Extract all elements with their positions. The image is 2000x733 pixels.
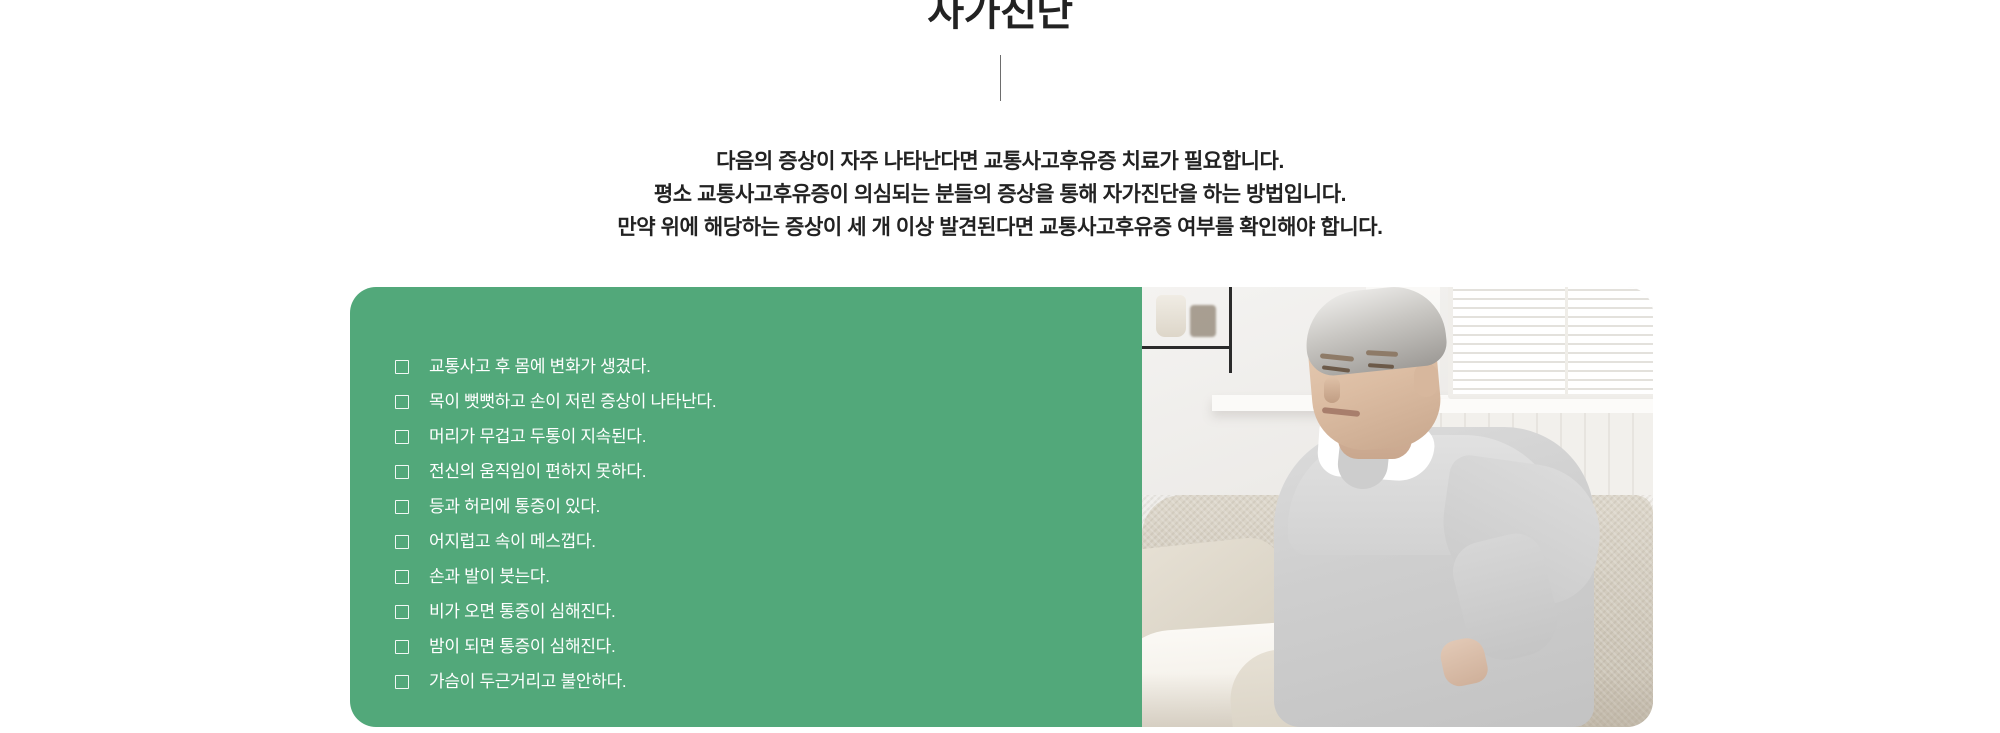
list-item-label: 손과 발이 붓는다. (429, 568, 550, 585)
photo-shelf-jar (1156, 295, 1186, 337)
checkbox-icon[interactable] (395, 570, 409, 584)
list-item-label: 가슴이 두근거리고 불안하다. (429, 673, 626, 690)
checkbox-icon[interactable] (395, 465, 409, 479)
list-item-label: 머리가 무겁고 두통이 지속된다. (429, 428, 646, 445)
patient-photo (1142, 287, 1653, 727)
lead-line-1: 다음의 증상이 자주 나타난다면 교통사고후유증 치료가 필요합니다. (0, 145, 2000, 178)
checkbox-icon[interactable] (395, 500, 409, 514)
photo-man-ear (1414, 363, 1438, 397)
checkbox-icon[interactable] (395, 430, 409, 444)
list-item[interactable]: 가슴이 두근거리고 불안하다. (395, 664, 1122, 699)
checkbox-icon[interactable] (395, 640, 409, 654)
list-item-label: 비가 오면 통증이 심해진다. (429, 603, 615, 620)
lead-line-2: 평소 교통사고후유증이 의심되는 분들의 증상을 통해 자가진단을 하는 방법입… (0, 178, 2000, 211)
list-item[interactable]: 비가 오면 통증이 심해진다. (395, 594, 1122, 629)
checklist-panel: 교통사고 후 몸에 변화가 생겼다. 목이 뻣뻣하고 손이 저린 증상이 나타난… (350, 287, 1142, 727)
checkbox-icon[interactable] (395, 535, 409, 549)
photo-window-sill (1438, 399, 1653, 413)
list-item[interactable]: 밤이 되면 통증이 심해진다. (395, 629, 1122, 664)
photo-window-shutter-right (1568, 287, 1653, 394)
page-title: 자가진단 (0, 0, 2000, 36)
list-item-label: 교통사고 후 몸에 변화가 생겼다. (429, 358, 651, 375)
list-item[interactable]: 목이 뻣뻣하고 손이 저린 증상이 나타난다. (395, 384, 1122, 419)
lead-line-3: 만약 위에 해당하는 증상이 세 개 이상 발견된다면 교통사고후유증 여부를 … (0, 211, 2000, 244)
checkbox-icon[interactable] (395, 675, 409, 689)
list-item-label: 등과 허리에 통증이 있다. (429, 498, 600, 515)
checkbox-icon[interactable] (395, 395, 409, 409)
photo-man-nose (1324, 377, 1340, 403)
list-item-label: 어지럽고 속이 메스껍다. (429, 533, 596, 550)
checkbox-icon[interactable] (395, 605, 409, 619)
self-diagnosis-section: 자가진단 다음의 증상이 자주 나타난다면 교통사고후유증 치료가 필요합니다.… (0, 0, 2000, 733)
list-item[interactable]: 교통사고 후 몸에 변화가 생겼다. (395, 349, 1122, 384)
self-diagnosis-card: 교통사고 후 몸에 변화가 생겼다. 목이 뻣뻣하고 손이 저린 증상이 나타난… (350, 287, 1653, 727)
list-item-label: 밤이 되면 통증이 심해진다. (429, 638, 615, 655)
photo-window-shutter-left (1453, 287, 1568, 394)
list-item[interactable]: 등과 허리에 통증이 있다. (395, 489, 1122, 524)
list-item[interactable]: 어지럽고 속이 메스껍다. (395, 524, 1122, 559)
lead-paragraph: 다음의 증상이 자주 나타난다면 교통사고후유증 치료가 필요합니다. 평소 교… (0, 145, 2000, 244)
list-item[interactable]: 머리가 무겁고 두통이 지속된다. (395, 419, 1122, 454)
checkbox-icon[interactable] (395, 360, 409, 374)
list-item-label: 목이 뻣뻣하고 손이 저린 증상이 나타난다. (429, 393, 716, 410)
photo-shelf-object (1190, 305, 1216, 337)
list-item-label: 전신의 움직임이 편하지 못하다. (429, 463, 646, 480)
list-item[interactable]: 전신의 움직임이 편하지 못하다. (395, 454, 1122, 489)
title-divider (1000, 55, 1001, 101)
list-item[interactable]: 손과 발이 붓는다. (395, 559, 1122, 594)
symptom-checklist: 교통사고 후 몸에 변화가 생겼다. 목이 뻣뻣하고 손이 저린 증상이 나타난… (395, 349, 1122, 699)
photo-window (1448, 287, 1653, 399)
